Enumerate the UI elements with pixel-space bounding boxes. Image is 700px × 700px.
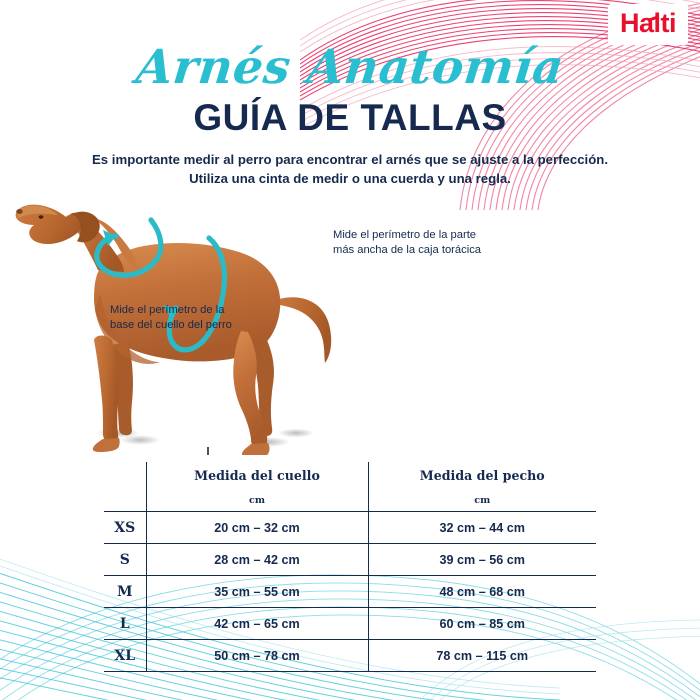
row-size-xs: XS [104,512,146,544]
row-size-m: M [104,576,146,608]
size-table-container: Medida del cuello Medida del pecho cm cm… [104,462,596,674]
size-table: Medida del cuello Medida del pecho cm cm… [104,462,596,672]
page-subtitle: Es importante medir al perro para encont… [0,150,700,188]
row-size-xl: XL [104,640,146,672]
row-neck-xl: 50 cm – 78 cm [146,640,368,672]
halti-logo-text: Halti [620,10,676,37]
unit-cell-neck: cm [146,489,368,512]
row-neck-xs: 20 cm – 32 cm [146,512,368,544]
script-title: Arnés Anatomía [0,40,700,95]
size-guide-page: Halti Arnés Anatomía GUÍA DE TALLAS Es i… [0,0,700,700]
table-header-row: Medida del cuello Medida del pecho [104,462,596,489]
chest-annotation-line-1: Mide el perímetro de la parte [333,228,481,243]
row-size-s: S [104,544,146,576]
header-cell-chest: Medida del pecho [368,462,596,489]
neck-annotation: Mide el perímetro de la base del cuello … [110,303,232,332]
table-row: M 35 cm – 55 cm 48 cm – 68 cm [104,576,596,608]
unit-cell-chest: cm [368,489,596,512]
unit-cell-size [104,489,146,512]
subtitle-line-1: Es importante medir al perro para encont… [0,150,700,169]
row-chest-l: 60 cm – 85 cm [368,608,596,640]
subtitle-line-2: Utiliza una cinta de medir o una cuerda … [0,169,700,188]
neck-annotation-line-1: Mide el perímetro de la [110,303,232,318]
table-row: XS 20 cm – 32 cm 32 cm – 44 cm [104,512,596,544]
neck-annotation-line-2: base del cuello del perro [110,318,232,333]
row-neck-s: 28 cm – 42 cm [146,544,368,576]
table-row: L 42 cm – 65 cm 60 cm – 85 cm [104,608,596,640]
row-chest-m: 48 cm – 68 cm [368,576,596,608]
table-row: XL 50 cm – 78 cm 78 cm – 115 cm [104,640,596,672]
row-neck-l: 42 cm – 65 cm [146,608,368,640]
row-size-l: L [104,608,146,640]
row-chest-s: 39 cm – 56 cm [368,544,596,576]
header-cell-neck: Medida del cuello [146,462,368,489]
row-chest-xs: 32 cm – 44 cm [368,512,596,544]
chest-annotation: Mide el perímetro de la parte más ancha … [333,228,481,257]
table-unit-row: cm cm [104,489,596,512]
chest-annotation-line-2: más ancha de la caja torácica [333,243,481,258]
header-cell-size [104,462,146,489]
page-title: GUÍA DE TALLAS [0,97,700,139]
halti-logo: Halti [608,4,688,45]
table-row: S 28 cm – 42 cm 39 cm – 56 cm [104,544,596,576]
row-chest-xl: 78 cm – 115 cm [368,640,596,672]
row-neck-m: 35 cm – 55 cm [146,576,368,608]
